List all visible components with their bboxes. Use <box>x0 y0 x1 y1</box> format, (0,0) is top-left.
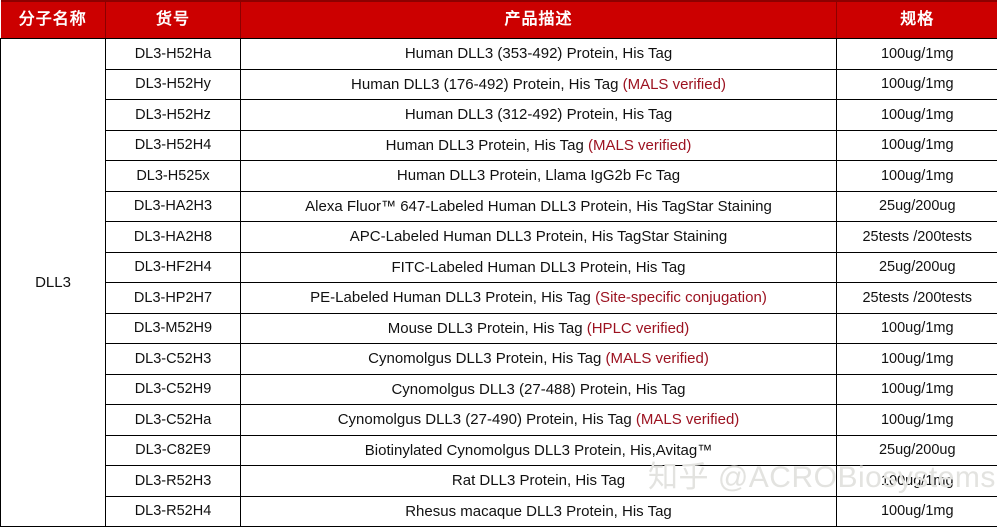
table-row: DL3-C52HaCynomolgus DLL3 (27-490) Protei… <box>1 405 997 436</box>
table-row: DL3-HP2H7PE-Labeled Human DLL3 Protein, … <box>1 283 997 314</box>
description-text: Mouse DLL3 Protein, His Tag <box>388 320 587 337</box>
catalog-number-cell: DL3-HA2H8 <box>106 222 241 253</box>
specification-cell: 25ug/200ug <box>837 252 997 283</box>
product-description-cell: Biotinylated Cynomolgus DLL3 Protein, Hi… <box>241 435 837 466</box>
product-description-cell: Rhesus macaque DLL3 Protein, His Tag <box>241 496 837 527</box>
specification-cell: 100ug/1mg <box>837 69 997 100</box>
description-highlight-note: (MALS verified) <box>605 350 708 367</box>
catalog-number-cell: DL3-HF2H4 <box>106 252 241 283</box>
product-description-cell: Human DLL3 (353-492) Protein, His Tag <box>241 39 837 70</box>
column-header-catalog-number: 货号 <box>106 1 241 39</box>
column-header-specification: 规格 <box>837 1 997 39</box>
table-row: DL3-HA2H3Alexa Fluor™ 647-Labeled Human … <box>1 191 997 222</box>
table-row: DL3-H525xHuman DLL3 Protein, Llama IgG2b… <box>1 161 997 192</box>
product-description-cell: Rat DLL3 Protein, His Tag <box>241 466 837 497</box>
product-description-cell: APC-Labeled Human DLL3 Protein, His TagS… <box>241 222 837 253</box>
product-description-cell: Human DLL3 (312-492) Protein, His Tag <box>241 100 837 131</box>
catalog-number-cell: DL3-HA2H3 <box>106 191 241 222</box>
description-text: PE-Labeled Human DLL3 Protein, His Tag <box>310 289 595 306</box>
description-text: Cynomolgus DLL3 (27-488) Protein, His Ta… <box>391 381 685 398</box>
specification-cell: 100ug/1mg <box>837 100 997 131</box>
product-description-cell: Alexa Fluor™ 647-Labeled Human DLL3 Prot… <box>241 191 837 222</box>
specification-cell: 100ug/1mg <box>837 344 997 375</box>
specification-cell: 25tests /200tests <box>837 283 997 314</box>
specification-cell: 100ug/1mg <box>837 496 997 527</box>
description-highlight-note: (HPLC verified) <box>587 320 690 337</box>
product-description-cell: Mouse DLL3 Protein, His Tag (HPLC verifi… <box>241 313 837 344</box>
table-row: DLL3DL3-H52HaHuman DLL3 (353-492) Protei… <box>1 39 997 70</box>
specification-cell: 25ug/200ug <box>837 191 997 222</box>
description-text: Cynomolgus DLL3 Protein, His Tag <box>368 350 605 367</box>
description-text: FITC-Labeled Human DLL3 Protein, His Tag <box>391 259 685 276</box>
product-description-cell: Human DLL3 Protein, Llama IgG2b Fc Tag <box>241 161 837 192</box>
table-row: DL3-HF2H4FITC-Labeled Human DLL3 Protein… <box>1 252 997 283</box>
catalog-number-cell: DL3-H52Hy <box>106 69 241 100</box>
table-row: DL3-R52H3Rat DLL3 Protein, His Tag100ug/… <box>1 466 997 497</box>
description-text: Human DLL3 (312-492) Protein, His Tag <box>405 106 672 123</box>
header-row: 分子名称 货号 产品描述 规格 <box>1 1 997 39</box>
description-text: APC-Labeled Human DLL3 Protein, His TagS… <box>350 228 727 245</box>
product-description-cell: Human DLL3 (176-492) Protein, His Tag (M… <box>241 69 837 100</box>
catalog-number-cell: DL3-M52H9 <box>106 313 241 344</box>
dll3-product-table: 分子名称 货号 产品描述 规格 DLL3DL3-H52HaHuman DLL3 … <box>0 0 997 527</box>
specification-cell: 100ug/1mg <box>837 313 997 344</box>
product-description-cell: Cynomolgus DLL3 Protein, His Tag (MALS v… <box>241 344 837 375</box>
catalog-number-cell: DL3-H52Ha <box>106 39 241 70</box>
table-row: DL3-C52H9Cynomolgus DLL3 (27-488) Protei… <box>1 374 997 405</box>
column-header-product-description: 产品描述 <box>241 1 837 39</box>
description-highlight-note: (Site-specific conjugation) <box>595 289 767 306</box>
description-highlight-note: (MALS verified) <box>636 411 739 428</box>
specification-cell: 100ug/1mg <box>837 466 997 497</box>
table-row: DL3-C82E9Biotinylated Cynomolgus DLL3 Pr… <box>1 435 997 466</box>
product-description-cell: Human DLL3 Protein, His Tag (MALS verifi… <box>241 130 837 161</box>
catalog-number-cell: DL3-C52H3 <box>106 344 241 375</box>
product-description-cell: Cynomolgus DLL3 (27-488) Protein, His Ta… <box>241 374 837 405</box>
table-row: DL3-M52H9Mouse DLL3 Protein, His Tag (HP… <box>1 313 997 344</box>
table-row: DL3-C52H3Cynomolgus DLL3 Protein, His Ta… <box>1 344 997 375</box>
description-text: Human DLL3 Protein, Llama IgG2b Fc Tag <box>397 167 680 184</box>
description-text: Human DLL3 (353-492) Protein, His Tag <box>405 45 672 62</box>
catalog-number-cell: DL3-H52H4 <box>106 130 241 161</box>
description-text: Rat DLL3 Protein, His Tag <box>452 472 625 489</box>
product-description-cell: FITC-Labeled Human DLL3 Protein, His Tag <box>241 252 837 283</box>
description-text: Human DLL3 (176-492) Protein, His Tag <box>351 76 623 93</box>
product-table-container: 分子名称 货号 产品描述 规格 DLL3DL3-H52HaHuman DLL3 … <box>0 0 997 515</box>
catalog-number-cell: DL3-H525x <box>106 161 241 192</box>
table-row: DL3-R52H4Rhesus macaque DLL3 Protein, Hi… <box>1 496 997 527</box>
table-row: DL3-HA2H8APC-Labeled Human DLL3 Protein,… <box>1 222 997 253</box>
specification-cell: 25ug/200ug <box>837 435 997 466</box>
specification-cell: 25tests /200tests <box>837 222 997 253</box>
catalog-number-cell: DL3-C52H9 <box>106 374 241 405</box>
catalog-number-cell: DL3-H52Hz <box>106 100 241 131</box>
specification-cell: 100ug/1mg <box>837 161 997 192</box>
catalog-number-cell: DL3-R52H3 <box>106 466 241 497</box>
description-text: Rhesus macaque DLL3 Protein, His Tag <box>405 503 672 520</box>
catalog-number-cell: DL3-HP2H7 <box>106 283 241 314</box>
product-description-cell: Cynomolgus DLL3 (27-490) Protein, His Ta… <box>241 405 837 436</box>
table-body: DLL3DL3-H52HaHuman DLL3 (353-492) Protei… <box>1 39 997 527</box>
table-row: DL3-H52H4Human DLL3 Protein, His Tag (MA… <box>1 130 997 161</box>
description-highlight-note: (MALS verified) <box>588 137 691 154</box>
description-text: Alexa Fluor™ 647-Labeled Human DLL3 Prot… <box>305 198 772 215</box>
catalog-number-cell: DL3-C52Ha <box>106 405 241 436</box>
table-row: DL3-H52HzHuman DLL3 (312-492) Protein, H… <box>1 100 997 131</box>
table-row: DL3-H52HyHuman DLL3 (176-492) Protein, H… <box>1 69 997 100</box>
catalog-number-cell: DL3-C82E9 <box>106 435 241 466</box>
specification-cell: 100ug/1mg <box>837 130 997 161</box>
description-text: Cynomolgus DLL3 (27-490) Protein, His Ta… <box>338 411 636 428</box>
description-highlight-note: (MALS verified) <box>623 76 726 93</box>
specification-cell: 100ug/1mg <box>837 374 997 405</box>
column-header-molecule-name: 分子名称 <box>1 1 106 39</box>
description-text: Biotinylated Cynomolgus DLL3 Protein, Hi… <box>365 442 712 459</box>
table-header: 分子名称 货号 产品描述 规格 <box>1 1 997 39</box>
product-description-cell: PE-Labeled Human DLL3 Protein, His Tag (… <box>241 283 837 314</box>
specification-cell: 100ug/1mg <box>837 405 997 436</box>
catalog-number-cell: DL3-R52H4 <box>106 496 241 527</box>
description-text: Human DLL3 Protein, His Tag <box>386 137 588 154</box>
molecule-name-cell: DLL3 <box>1 39 106 527</box>
specification-cell: 100ug/1mg <box>837 39 997 70</box>
